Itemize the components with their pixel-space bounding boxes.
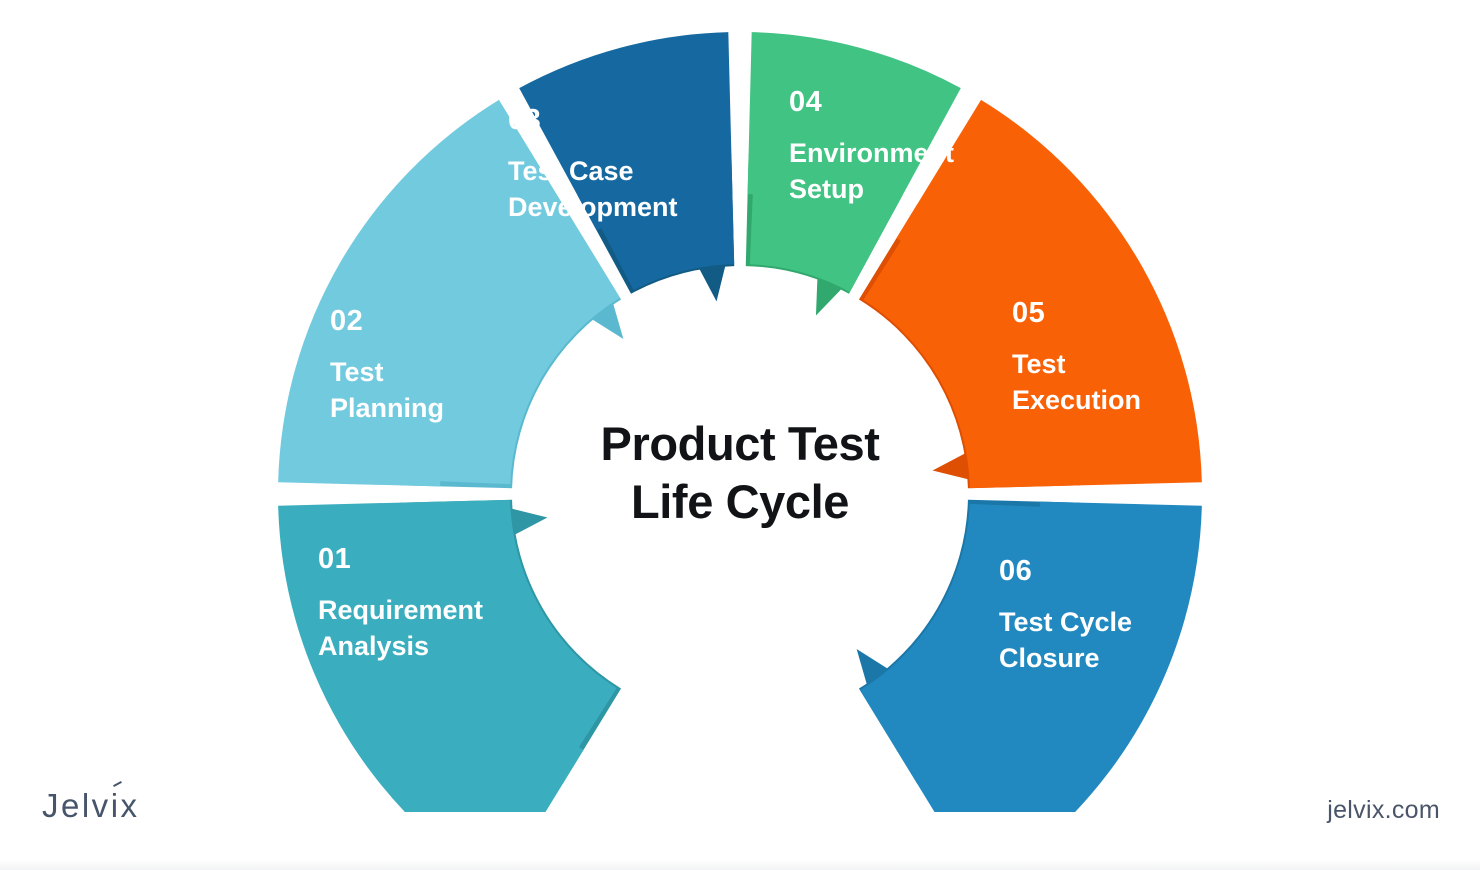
segment-03-title-line1: Test Case (508, 156, 634, 186)
segment-01-title-line1: Requirement (318, 595, 483, 625)
segment-06-title-line2: Closure (999, 643, 1100, 673)
logo-letter-i: i (111, 787, 121, 824)
center-title-line1: Product Test (601, 417, 881, 470)
segment-04-title-line2: Setup (789, 174, 864, 204)
logo-i-glyph: i (111, 787, 121, 824)
segment-05-number: 05 (1012, 297, 1045, 329)
jelvix-logo[interactable]: Jelvix (42, 787, 140, 825)
segment-01-number: 01 (318, 543, 351, 575)
segment-01-title-line2: Analysis (318, 631, 429, 661)
footer-band (0, 812, 1480, 870)
segment-06-number: 06 (999, 555, 1032, 587)
segment-02-number: 02 (330, 305, 363, 337)
logo-text-post: x (121, 787, 140, 824)
segment-02-title-line1: Test (330, 357, 384, 387)
segment-04-number: 04 (789, 86, 822, 118)
segment-05-title-line1: Test (1012, 349, 1066, 379)
segment-06-title-line1: Test Cycle (999, 607, 1132, 637)
segment-04-title-line1: Environment (789, 138, 954, 168)
infographic-canvas: 01RequirementAnalysis02TestPlanning03Tes… (0, 0, 1480, 870)
segment-03-number: 03 (508, 104, 541, 136)
segment-05-title-line2: Execution (1012, 385, 1141, 415)
logo-text-pre: Jelv (42, 787, 111, 824)
segment-02-title-line2: Planning (330, 393, 444, 423)
segment-03-title-line2: Development (508, 192, 678, 222)
process-wheel-diagram: 01RequirementAnalysis02TestPlanning03Tes… (0, 0, 1480, 870)
center-title-line2: Life Cycle (631, 475, 849, 528)
jelvix-url[interactable]: jelvix.com (1327, 796, 1440, 825)
